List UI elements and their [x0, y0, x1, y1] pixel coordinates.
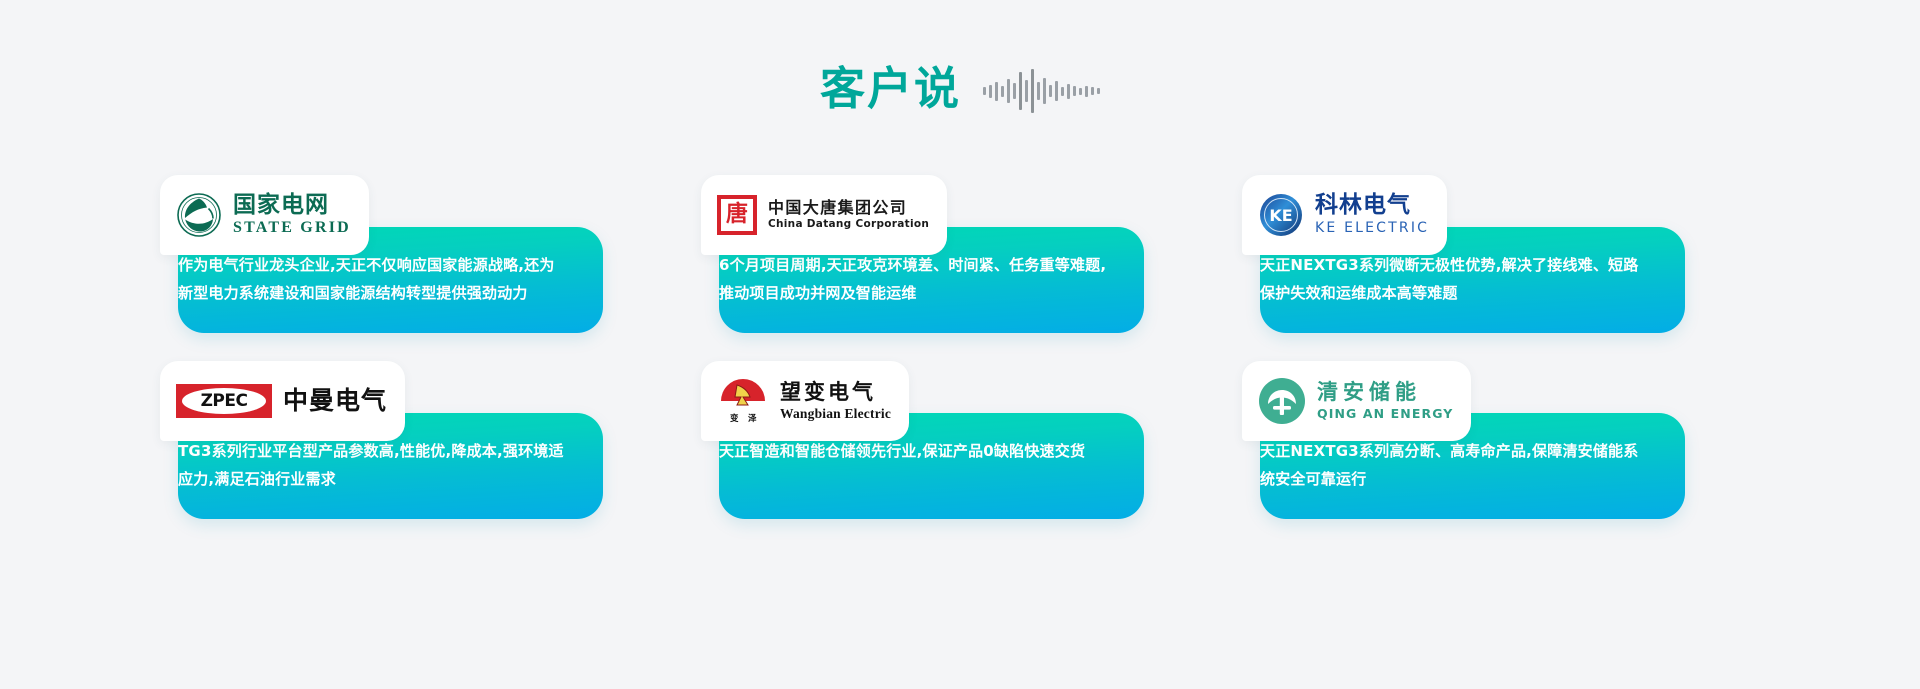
wangbian-electric-logo-icon: 变 泽 [717, 375, 769, 427]
brand-name-en: Wangbian Electric [780, 406, 891, 421]
brand-logo-badge: 清安储能 QING AN ENERGY [1242, 361, 1471, 441]
china-datang-seal-icon: 唐 [717, 195, 757, 235]
section-heading: 客户说 [0, 62, 1920, 114]
svg-text:KE: KE [1269, 206, 1292, 225]
brand-name-en: QING AN ENERGY [1317, 407, 1453, 421]
testimonial-quote: 6个月项目周期,天正攻克环境差、时间紧、任务重等难题,推动项目成功并网及智能运维 [719, 251, 1119, 307]
ke-electric-logo-icon: KE [1258, 192, 1304, 238]
brand-name-en: China Datang Corporation [768, 219, 929, 231]
testimonial-card[interactable]: 天正NEXTG3系列高分断、高寿命产品,保障清安储能系统安全可靠运行 清安储能 … [1242, 361, 1685, 519]
page-title: 客户说 [820, 66, 961, 111]
state-grid-logo-icon [176, 192, 222, 238]
brand-name-cn: 望变电气 [780, 381, 891, 405]
brand-name: 望变电气 Wangbian Electric [780, 381, 891, 422]
testimonial-card[interactable]: 6个月项目周期,天正攻克环境差、时间紧、任务重等难题,推动项目成功并网及智能运维… [701, 175, 1144, 333]
zpec-oval: ZPEC [182, 388, 266, 414]
svg-text:泽: 泽 [748, 413, 757, 424]
brand-logo-badge: 唐 中国大唐集团公司 China Datang Corporation [701, 175, 947, 255]
zpec-wordmark: ZPEC [201, 391, 248, 411]
brand-name-cn: 中国大唐集团公司 [768, 199, 929, 217]
seal-character: 唐 [717, 195, 757, 235]
brand-name: 中曼电气 [283, 387, 387, 415]
brand-name-cn: 国家电网 [233, 193, 351, 219]
qingan-energy-logo-icon [1258, 377, 1306, 425]
testimonial-quote: TG3系列行业平台型产品参数高,性能优,降成本,强环境适应力,满足石油行业需求 [178, 437, 578, 493]
testimonial-card[interactable]: TG3系列行业平台型产品参数高,性能优,降成本,强环境适应力,满足石油行业需求 … [160, 361, 603, 519]
brand-logo-badge: ZPEC 中曼电气 [160, 361, 405, 441]
brand-name: 国家电网 STATE GRID [233, 193, 351, 238]
brand-name-en: KE ELECTRIC [1315, 221, 1429, 237]
brand-name: 科林电气 KE ELECTRIC [1315, 193, 1429, 236]
svg-text:变: 变 [730, 413, 739, 424]
brand-logo-badge: 变 泽 望变电气 Wangbian Electric [701, 361, 909, 441]
brand-name: 清安储能 QING AN ENERGY [1317, 381, 1453, 421]
testimonial-quote: 天正NEXTG3系列微断无极性优势,解决了接线难、短路保护失效和运维成本高等难题 [1260, 251, 1660, 307]
brand-logo-badge: 国家电网 STATE GRID [160, 175, 369, 255]
testimonial-card[interactable]: 作为电气行业龙头企业,天正不仅响应国家能源战略,还为新型电力系统建设和国家能源结… [160, 175, 603, 333]
brand-logo-badge: KE 科林电气 KE ELECTRIC [1242, 175, 1447, 255]
brand-name-cn: 科林电气 [1315, 193, 1429, 219]
testimonial-quote: 作为电气行业龙头企业,天正不仅响应国家能源战略,还为新型电力系统建设和国家能源结… [178, 251, 578, 307]
testimonial-card[interactable]: 天正NEXTG3系列微断无极性优势,解决了接线难、短路保护失效和运维成本高等难题… [1242, 175, 1685, 333]
zpec-logo-icon: ZPEC [176, 384, 272, 418]
testimonial-quote: 天正NEXTG3系列高分断、高寿命产品,保障清安储能系统安全可靠运行 [1260, 437, 1660, 493]
brand-name-en: STATE GRID [233, 219, 351, 237]
testimonial-card-grid: 作为电气行业龙头企业,天正不仅响应国家能源战略,还为新型电力系统建设和国家能源结… [160, 175, 1760, 519]
testimonial-card[interactable]: 天正智造和智能仓储领先行业,保证产品0缺陷快速交货 变 泽 望变电气 Wangb… [701, 361, 1144, 519]
zpec-red-block: ZPEC [176, 384, 272, 418]
brand-name-cn: 清安储能 [1317, 381, 1453, 405]
brand-name-cn: 中曼电气 [283, 387, 387, 415]
brand-name: 中国大唐集团公司 China Datang Corporation [768, 199, 929, 231]
testimonial-quote: 天正智造和智能仓储领先行业,保证产品0缺陷快速交货 [719, 437, 1119, 465]
audio-waveform-icon [983, 68, 1100, 114]
